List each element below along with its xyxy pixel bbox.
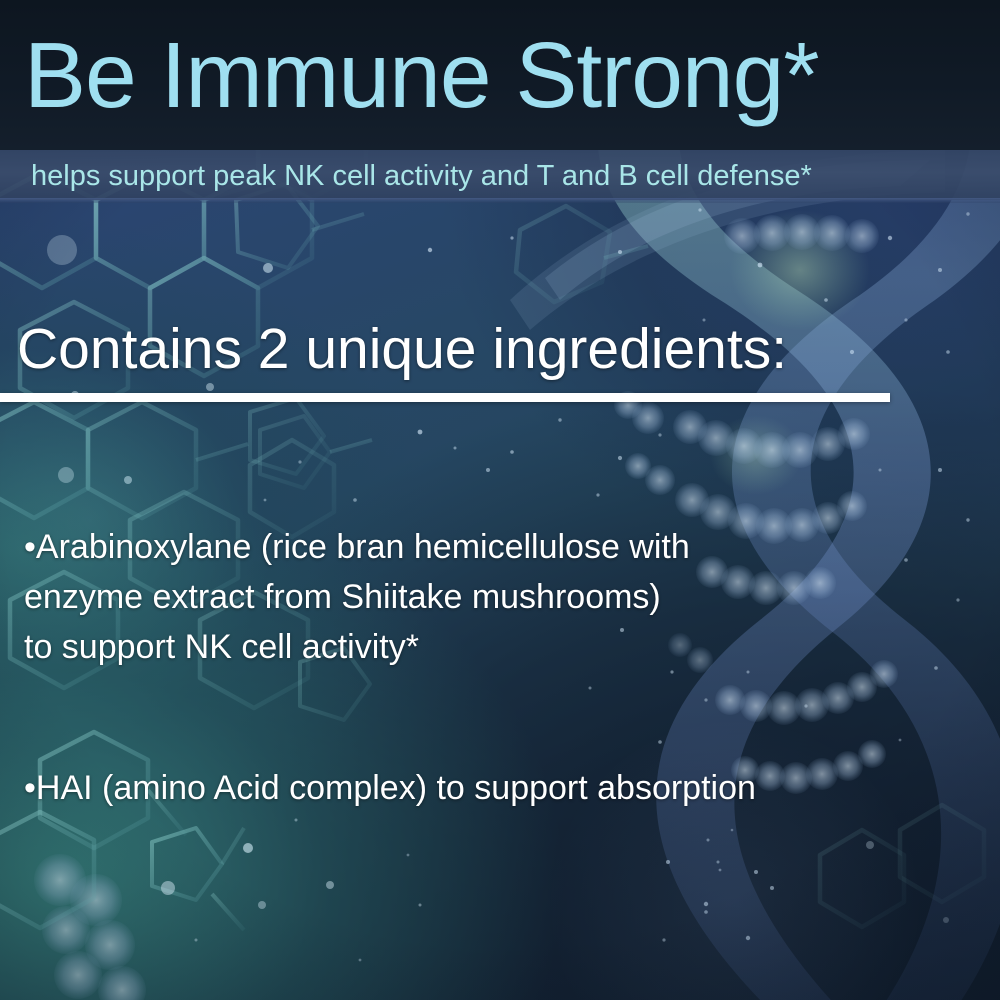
section-heading: Contains 2 unique ingredients:: [17, 315, 787, 383]
ingredient-list: •Arabinoxylane (rice bran hemicellulose …: [24, 522, 974, 672]
heading-divider: [0, 393, 890, 402]
page-title: Be Immune Strong*: [24, 20, 819, 130]
subtitle-band-edge: [0, 198, 1000, 203]
list-item: •HAI (amino Acid complex) to support abs…: [24, 764, 756, 812]
page-subtitle: helps support peak NK cell activity and …: [31, 159, 812, 193]
product-info-poster: Be Immune Strong* helps support peak NK …: [0, 0, 1000, 1000]
list-item: •Arabinoxylane (rice bran hemicellulose …: [24, 522, 974, 672]
